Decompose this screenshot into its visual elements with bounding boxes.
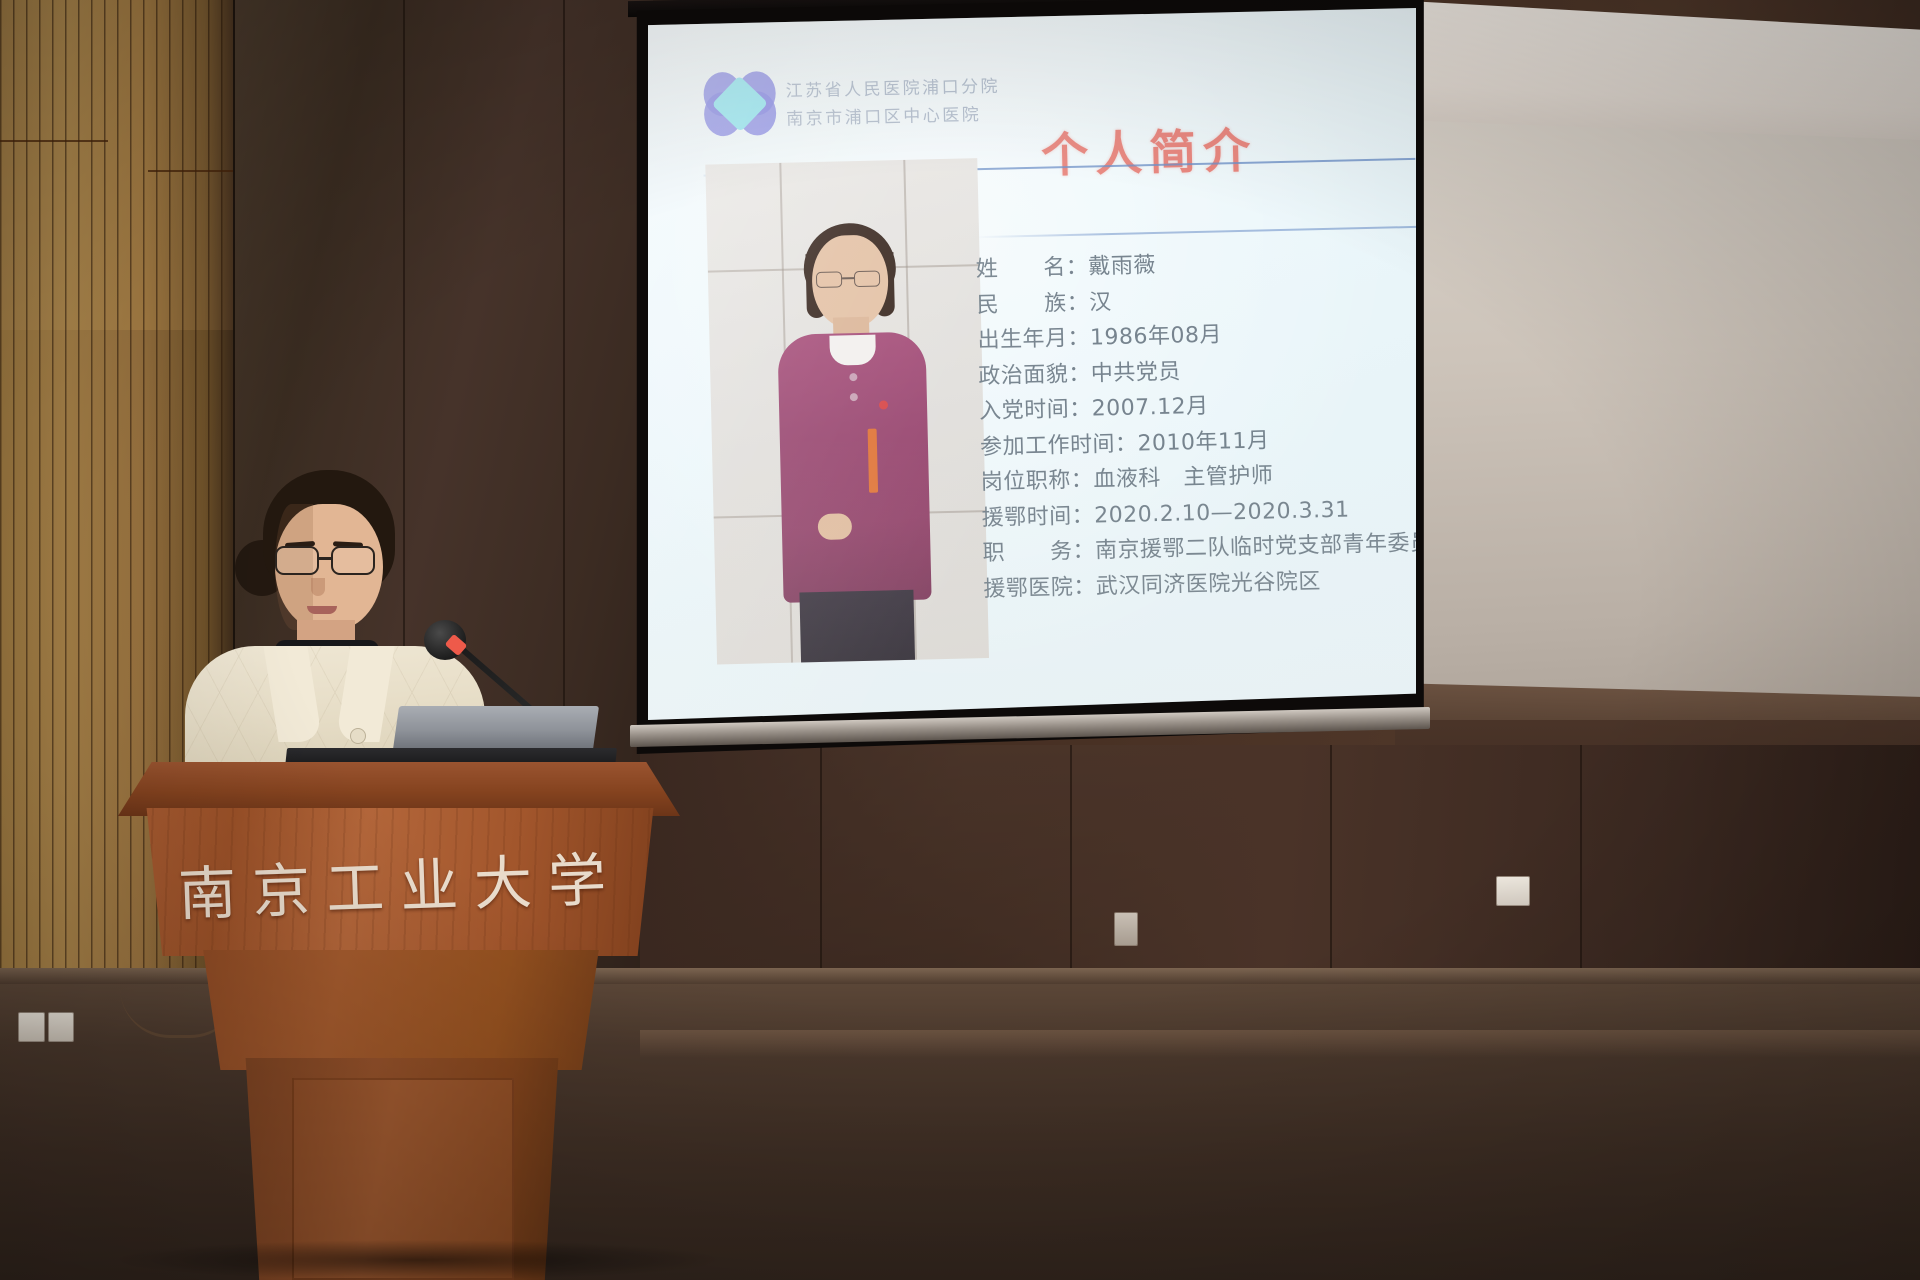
info-value: 1986年08月 — [1090, 322, 1223, 350]
wall-socket-center — [1114, 912, 1138, 946]
info-value: 2020.2.10—2020.3.31 — [1094, 497, 1350, 528]
profile-info-list: 姓 名：戴雨薇 民 族：汉 出生年月：1986年08月 政治面貌：中共党员 入党… — [975, 242, 1416, 607]
podium-mid-section — [186, 950, 616, 1070]
hospital-flower-logo-icon — [703, 67, 777, 141]
hospital-logo: 江苏省人民医院浦口分院 南京市浦口区中心医院 — [703, 62, 1001, 141]
info-label: 援鄂医院： — [983, 569, 1096, 607]
info-label: 参加工作时间： — [980, 426, 1138, 465]
slide-title: 个人简介 — [1040, 112, 1258, 186]
lecture-hall-scene: 江苏省人民医院浦口分院 南京市浦口区中心医院 个人简介 — [0, 0, 1920, 1280]
wood-slat-panel-upper — [0, 0, 233, 330]
info-value: 血液科 主管护师 — [1093, 463, 1274, 492]
laptop-screen[interactable] — [393, 706, 599, 750]
info-label: 职 务： — [982, 534, 1095, 572]
wall-socket-left — [18, 1012, 74, 1042]
hospital-name-line2: 南京市浦口区中心医院 — [786, 99, 1001, 129]
info-value: 武汉同济医院光谷院区 — [1096, 569, 1322, 599]
wall-right-upper — [1400, 120, 1920, 780]
info-label: 援鄂时间： — [981, 498, 1094, 536]
baseboard — [640, 1030, 1920, 1058]
hospital-name-line1: 江苏省人民医院浦口分院 — [785, 71, 1000, 101]
info-label: 姓 名： — [975, 250, 1088, 288]
info-value: 2010年11月 — [1137, 428, 1270, 456]
info-value: 戴雨薇 — [1088, 253, 1156, 280]
info-label: 岗位职称： — [980, 463, 1093, 501]
info-divider-rule — [975, 226, 1416, 238]
info-value: 中共党员 — [1091, 359, 1182, 386]
presenter-portrait-photo — [705, 158, 989, 664]
podium-university-name: 南京工业大学 — [159, 832, 642, 933]
info-label: 出生年月： — [977, 321, 1090, 359]
projected-slide: 江苏省人民医院浦口分院 南京市浦口区中心医院 个人简介 — [648, 8, 1416, 720]
info-value: 2007.12月 — [1091, 394, 1209, 422]
info-label: 政治面貌： — [978, 356, 1091, 394]
eyeglasses — [275, 546, 387, 576]
hospital-logo-text: 江苏省人民医院浦口分院 南京市浦口区中心医院 — [785, 71, 1001, 129]
info-value: 南京援鄂二队临时党支部青年委员 — [1095, 531, 1416, 564]
wall-socket-right — [1496, 876, 1530, 906]
info-label: 入党时间： — [979, 392, 1092, 430]
podium-top — [118, 762, 680, 816]
info-value: 汉 — [1089, 290, 1112, 316]
info-label: 民 族： — [976, 285, 1089, 323]
